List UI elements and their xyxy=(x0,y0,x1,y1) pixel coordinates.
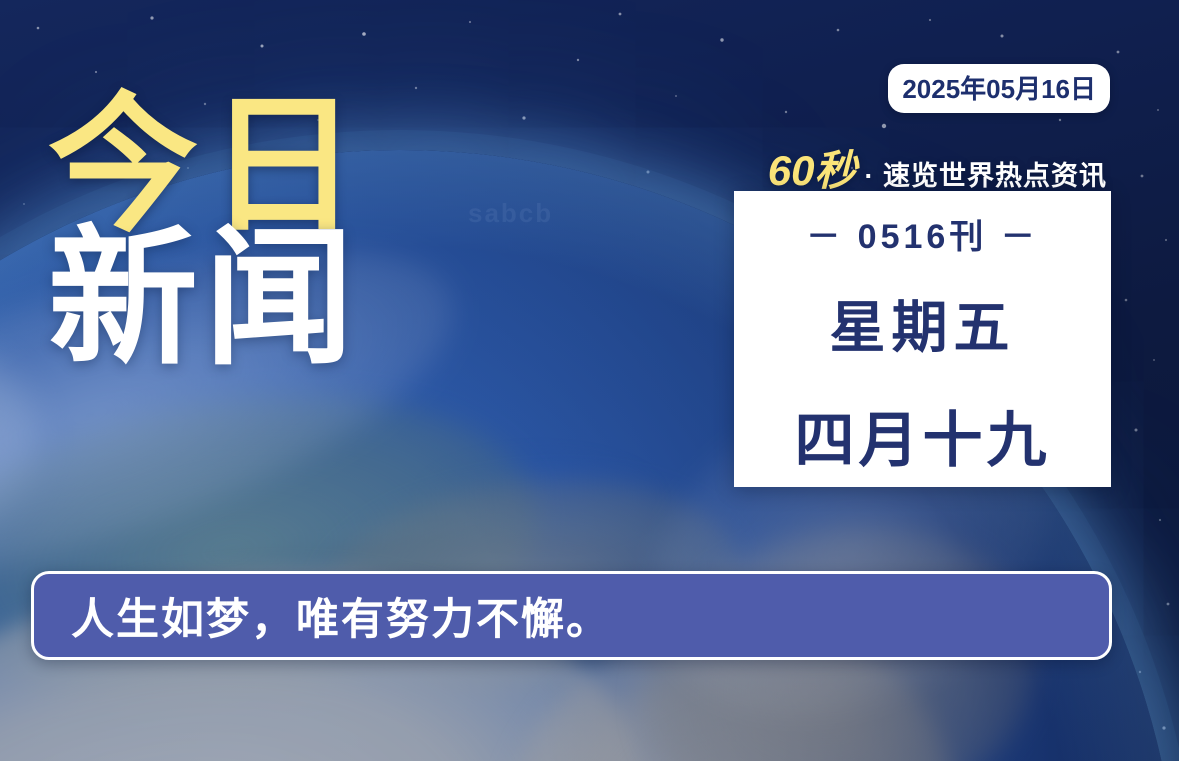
tagline-description: · 速览世界热点资讯 xyxy=(865,154,1108,193)
watermark-text: sabcb xyxy=(468,198,553,229)
poster-title: 今日 新闻 xyxy=(48,92,368,373)
quote-text: 人生如梦，唯有努力不懈。 xyxy=(71,585,611,647)
issue-number: － 0516刊 － xyxy=(806,209,1039,258)
tagline-60s: 60秒 xyxy=(768,137,857,198)
quote-banner: 人生如梦，唯有努力不懈。 xyxy=(31,571,1112,660)
lunar-date-label: 四月十九 xyxy=(795,392,1051,479)
tagline: 60秒 · 速览世界热点资讯 xyxy=(768,137,1107,198)
weekday-label: 星期五 xyxy=(830,283,1016,364)
date-info-card: － 0516刊 － 星期五 四月十九 xyxy=(734,191,1111,487)
date-badge: 2025年05月16日 xyxy=(888,64,1110,113)
news-poster: sabcb 今日 新闻 2025年05月16日 60秒 · 速览世界热点资讯 －… xyxy=(0,0,1179,761)
title-line-xinwen: 新闻 xyxy=(48,223,368,373)
